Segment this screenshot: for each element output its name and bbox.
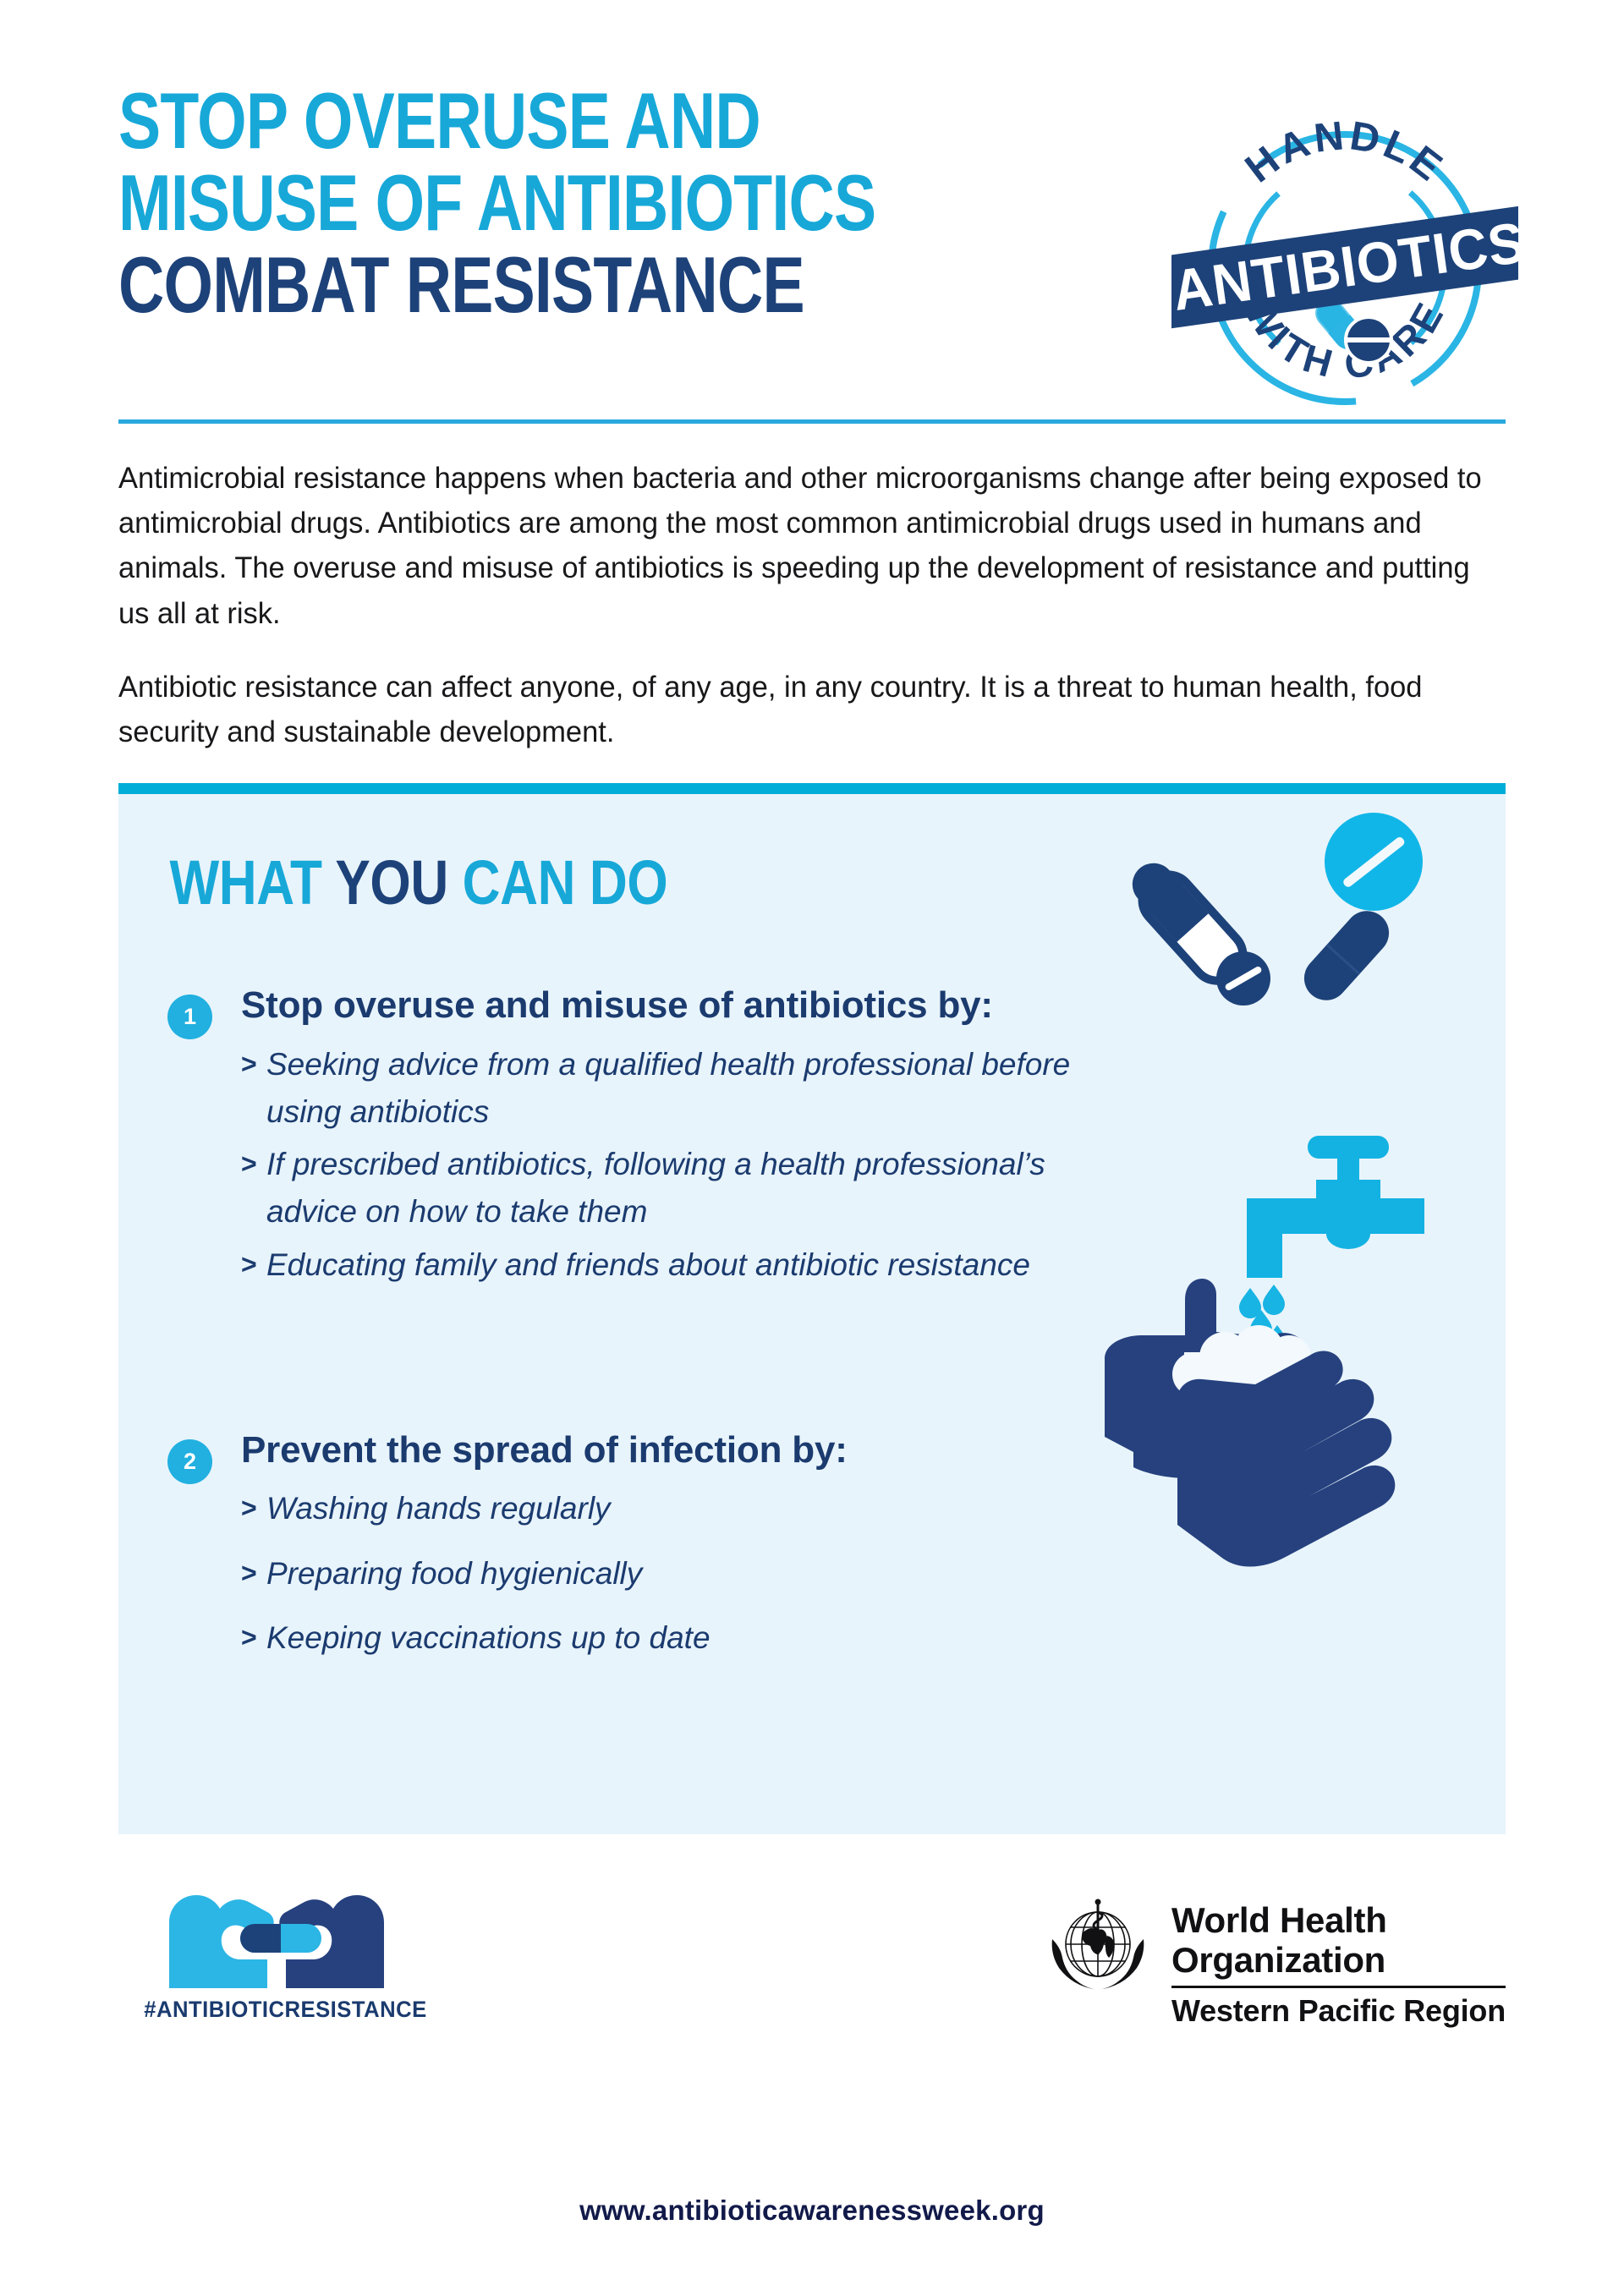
poster-footer: #ANTIBIOTICRESISTANCE (0, 1834, 1624, 2029)
chevron-right-icon: > (241, 1550, 266, 1597)
item-number-badge: 1 (167, 995, 212, 1039)
chevron-right-icon: > (241, 1041, 266, 1088)
bullet-item: > Keeping vaccinations up to date (241, 1614, 848, 1662)
bullet-item: > Educating family and friends about ant… (241, 1241, 1129, 1289)
poster-header: STOP OVERUSE AND MISUSE OF ANTIBIOTICS C… (0, 0, 1624, 397)
bullet-item: > Seeking advice from a qualified health… (241, 1041, 1129, 1136)
bullet-item: > Preparing food hygienically (241, 1550, 848, 1597)
poster-root: STOP OVERUSE AND MISUSE OF ANTIBIOTICS C… (0, 0, 1624, 2296)
item-title: Prevent the spread of infection by: (241, 1429, 848, 1472)
right-hand-icon (1177, 1351, 1395, 1567)
bullet-text: If prescribed antibiotics, following a h… (266, 1141, 1129, 1236)
svg-text:ANTIBIOTICS: ANTIBIOTICS (1171, 210, 1518, 323)
who-line-2: Organization (1171, 1940, 1506, 1980)
item-body: Stop overuse and misuse of antibiotics b… (241, 984, 1129, 1294)
hashtag-label: #ANTIBIOTICRESISTANCE (144, 1997, 409, 2023)
page-title: STOP OVERUSE AND MISUSE OF ANTIBIOTICS C… (118, 80, 1116, 326)
who-emblem-icon (1041, 1895, 1155, 2008)
bullet-text: Seeking advice from a qualified health p… (266, 1041, 1129, 1136)
item-body: Prevent the spread of infection by: > Wa… (241, 1429, 848, 1679)
who-line-3: Western Pacific Region (1171, 1993, 1506, 2029)
chevron-right-icon: > (241, 1141, 266, 1187)
bullet-item: > If prescribed antibiotics, following a… (241, 1141, 1129, 1236)
who-line-1: World Health (1171, 1900, 1506, 1940)
item-title: Stop overuse and misuse of antibiotics b… (241, 984, 1129, 1027)
item-bullet-list: > Seeking advice from a qualified health… (241, 1041, 1129, 1289)
title-line-2: MISUSE OF ANTIBIOTICS (118, 162, 917, 244)
capsule-icon (240, 1924, 321, 1953)
bullet-text: Keeping vaccinations up to date (266, 1614, 848, 1662)
who-divider (1171, 1986, 1506, 1988)
website-url[interactable]: www.antibioticawarenessweek.org (0, 2195, 1624, 2227)
panel-heading-part-3: CAN DO (463, 847, 668, 918)
faucet-icon (1247, 1136, 1424, 1278)
bullet-item: > Washing hands regularly (241, 1485, 848, 1532)
who-logo: World Health Organization Western Pacifi… (1041, 1895, 1506, 2029)
handwashing-illustration (1089, 1131, 1470, 1604)
intro-paragraph-2: Antibiotic resistance can affect anyone,… (118, 665, 1484, 754)
antibiotic-resistance-logo: #ANTIBIOTICRESISTANCE (137, 1883, 416, 2023)
item-bullet-list: > Washing hands regularly > Preparing fo… (241, 1485, 848, 1662)
intro-section: Antimicrobial resistance happens when ba… (0, 424, 1624, 783)
panel-heading-part-1: WHAT (169, 847, 321, 918)
capsule-solid-icon (1295, 902, 1398, 1010)
pills-illustration (1101, 801, 1457, 1071)
handle-with-care-badge-icon: HANDLE WITH CARE ANTIBIO (1171, 80, 1518, 419)
panel-heading-part-2: YOU (335, 847, 447, 918)
svg-text:HANDLE: HANDLE (1237, 113, 1452, 192)
chevron-right-icon: > (241, 1614, 266, 1661)
item-number-badge: 2 (167, 1439, 212, 1484)
who-wordmark: World Health Organization Western Pacifi… (1171, 1895, 1506, 2029)
chevron-right-icon: > (241, 1241, 266, 1288)
bullet-text: Preparing food hygienically (266, 1550, 848, 1597)
bullet-text: Educating family and friends about antib… (266, 1241, 1129, 1289)
large-tablet-icon (1325, 813, 1423, 911)
title-line-1: STOP OVERUSE AND (118, 80, 917, 162)
title-line-3: COMBAT RESISTANCE (118, 244, 917, 326)
section-divider (118, 783, 1506, 794)
what-you-can-do-panel: WHAT YOU CAN DO 1 Stop overuse and misus… (118, 794, 1506, 1834)
small-tablet-icon (1216, 951, 1270, 1006)
bullet-text: Washing hands regularly (266, 1485, 848, 1532)
intro-paragraph-1: Antimicrobial resistance happens when ba… (118, 456, 1484, 636)
chevron-right-icon: > (241, 1485, 266, 1532)
